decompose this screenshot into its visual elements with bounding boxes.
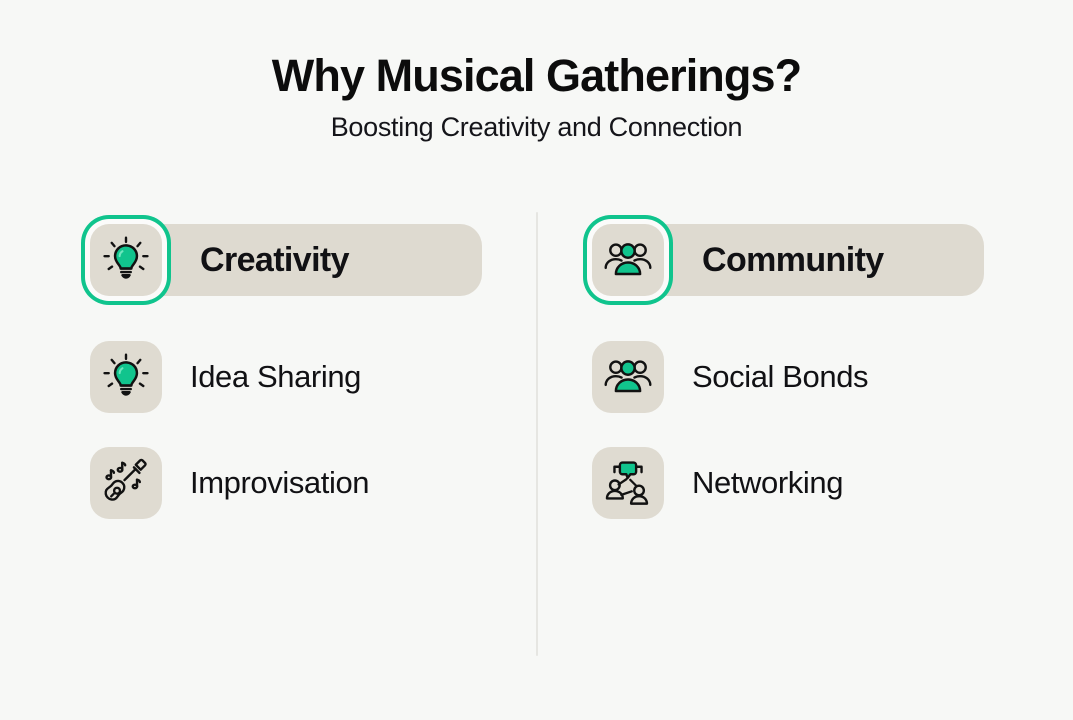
feature-label: Creativity <box>200 241 349 280</box>
header: Why Musical Gatherings? Boosting Creativ… <box>0 52 1073 143</box>
network-chat-icon <box>603 458 653 508</box>
people-group-icon-tile[interactable] <box>592 341 664 413</box>
page-subtitle: Boosting Creativity and Connection <box>0 113 1073 143</box>
lightbulb-icon <box>101 352 151 402</box>
network-chat-icon-tile[interactable] <box>592 447 664 519</box>
slide-canvas: Why Musical Gatherings? Boosting Creativ… <box>0 0 1073 720</box>
column-community: CommunitySocial BondsNetworking <box>592 213 1012 551</box>
page-title: Why Musical Gatherings? <box>0 52 1073 99</box>
people-group-icon-tile[interactable] <box>592 224 664 296</box>
feature-row-creativity[interactable]: Creativity <box>90 213 510 307</box>
column-creativity: CreativityIdea SharingImprovisation <box>90 213 510 551</box>
lightbulb-icon-tile[interactable] <box>90 224 162 296</box>
list-item[interactable]: Networking <box>592 445 1012 521</box>
guitar-music-icon <box>101 458 151 508</box>
list-item-label: Networking <box>692 465 843 501</box>
people-group-icon <box>603 235 653 285</box>
lightbulb-icon-tile[interactable] <box>90 341 162 413</box>
feature-row-community[interactable]: Community <box>592 213 1012 307</box>
list-item[interactable]: Improvisation <box>90 445 510 521</box>
guitar-music-icon-tile[interactable] <box>90 447 162 519</box>
list-item-label: Social Bonds <box>692 359 868 395</box>
list-item-label: Improvisation <box>190 465 369 501</box>
people-group-icon <box>603 352 653 402</box>
columns-container: CreativityIdea SharingImprovisation Comm… <box>0 213 1073 613</box>
list-item[interactable]: Idea Sharing <box>90 339 510 415</box>
list-item[interactable]: Social Bonds <box>592 339 1012 415</box>
lightbulb-icon <box>101 235 151 285</box>
list-item-label: Idea Sharing <box>190 359 361 395</box>
feature-label: Community <box>702 241 884 280</box>
